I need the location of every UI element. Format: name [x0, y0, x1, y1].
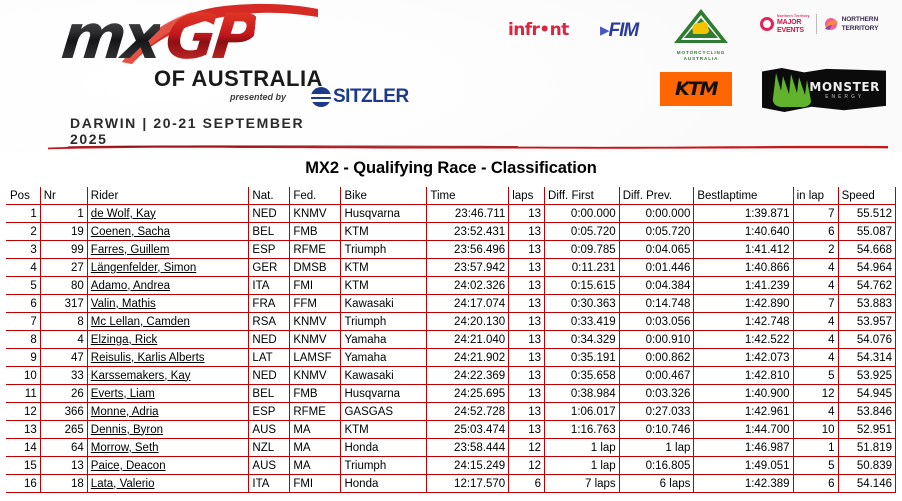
row-cell-time: 23:56.496: [427, 241, 509, 259]
row-cell-bike: Triumph: [341, 241, 427, 259]
row-cell-nr: 366: [40, 403, 87, 421]
row-cell-time: 23:52.431: [427, 223, 509, 241]
row-cell-diff-prev: 0:04.384: [619, 277, 694, 295]
sitzler-logo: SITZLER: [311, 86, 409, 108]
row-cell-bestlaptime: 1:42.389: [694, 475, 793, 493]
table-row: 6317Valin, MathisFRAFFMKawasaki24:17.074…: [7, 295, 896, 313]
row-cell-diff-first: 0:09.785: [545, 241, 620, 259]
table-row: 1464Morrow, SethNZLMAHonda23:58.444121 l…: [7, 439, 896, 457]
row-cell-laps: 13: [509, 349, 545, 367]
ktm-label: KTM: [675, 78, 717, 100]
row-cell-diff-first: 0:38.984: [545, 385, 620, 403]
row-cell-pos: 1: [7, 205, 41, 223]
table-row: 13265Dennis, ByronAUSMAKTM25:03.474131:1…: [7, 421, 896, 439]
nt-line2: TERRITORY: [842, 25, 879, 33]
row-cell-time: 24:22.369: [427, 367, 509, 385]
row-cell-bestlaptime: 1:41.412: [694, 241, 793, 259]
major-events-line1: MAJOR: [777, 19, 810, 26]
table-row: 1618Lata, ValerioITAFMIHonda12:17.57067 …: [7, 475, 896, 493]
row-cell-rider[interactable]: Lata, Valerio: [87, 475, 249, 493]
table-row: 84Elzinga, RickNEDKNMVYamaha24:21.040130…: [7, 331, 896, 349]
row-cell-pos: 15: [7, 457, 41, 475]
monster-energy-logo: MONSTER ENERGY: [762, 68, 886, 112]
row-cell-diff-first: 0:30.363: [545, 295, 620, 313]
ma-label: MOTORCYCLING AUSTRALIA: [670, 50, 732, 62]
row-cell-pos: 5: [7, 277, 41, 295]
row-cell-rider[interactable]: Elzinga, Rick: [87, 331, 249, 349]
row-cell-fed: MA: [290, 439, 341, 457]
column-header-nr[interactable]: Nr: [40, 187, 87, 205]
column-header-fed[interactable]: Fed.: [290, 187, 341, 205]
row-cell-rider[interactable]: Farres, Guillem: [87, 241, 249, 259]
row-cell-nr: 64: [40, 439, 87, 457]
row-cell-diff-first: 0:05.720: [545, 223, 620, 241]
row-cell-diff-first: 0:15.615: [545, 277, 620, 295]
row-cell-laps: 13: [509, 421, 545, 439]
row-cell-in-lap: 4: [793, 259, 838, 277]
rider-link[interactable]: Lata, Valerio: [91, 478, 155, 490]
row-cell-diff-first: 0:35.658: [545, 367, 620, 385]
row-cell-diff-first: 1:16.763: [545, 421, 620, 439]
row-cell-time: 25:03.474: [427, 421, 509, 439]
row-cell-nr: 1: [40, 205, 87, 223]
table-row: 947Reisulis, Karlis AlbertsLATLAMSFYamah…: [7, 349, 896, 367]
row-cell-laps: 13: [509, 385, 545, 403]
results-table: Pos Nr Rider Nat. Fed. Bike Time laps Di…: [6, 187, 896, 493]
row-cell-pos: 3: [7, 241, 41, 259]
row-cell-nat: BEL: [249, 223, 290, 241]
mxgp-mx-text: mx: [59, 6, 162, 68]
row-cell-bestlaptime: 1:42.810: [694, 367, 793, 385]
row-cell-time: 24:52.728: [427, 403, 509, 421]
row-cell-in-lap: 4: [793, 313, 838, 331]
row-cell-pos: 7: [7, 313, 41, 331]
column-header-nat[interactable]: Nat.: [249, 187, 290, 205]
row-cell-nat: NED: [249, 205, 290, 223]
row-cell-bike: Honda: [341, 439, 427, 457]
row-cell-diff-prev: 0:27.033: [619, 403, 694, 421]
nt-divider: [816, 14, 817, 34]
row-cell-laps: 13: [509, 259, 545, 277]
row-cell-speed: 53.883: [838, 295, 895, 313]
major-events-ring-icon: [760, 17, 774, 31]
row-cell-bestlaptime: 1:42.522: [694, 331, 793, 349]
row-cell-pos: 2: [7, 223, 41, 241]
column-header-in-lap[interactable]: in lap: [793, 187, 838, 205]
column-header-speed[interactable]: Speed: [838, 187, 895, 205]
row-cell-fed: MA: [290, 457, 341, 475]
rider-link[interactable]: Paice, Deacon: [91, 460, 166, 472]
row-cell-nr: 47: [40, 349, 87, 367]
row-cell-bestlaptime: 1:40.640: [694, 223, 793, 241]
row-cell-diff-prev: 0:03.056: [619, 313, 694, 331]
row-cell-diff-first: 1:06.017: [545, 403, 620, 421]
row-cell-laps: 13: [509, 403, 545, 421]
row-cell-fed: FFM: [290, 295, 341, 313]
row-cell-bestlaptime: 1:41.239: [694, 277, 793, 295]
column-header-time[interactable]: Time: [427, 187, 509, 205]
row-cell-laps: 13: [509, 367, 545, 385]
row-cell-speed: 54.668: [838, 241, 895, 259]
fim-logo: ▸FIM: [600, 19, 638, 42]
row-cell-time: 24:21.902: [427, 349, 509, 367]
row-cell-bike: Kawasaki: [341, 367, 427, 385]
results-table-container: Pos Nr Rider Nat. Fed. Bike Time laps Di…: [0, 187, 902, 493]
row-cell-speed: 53.925: [838, 367, 895, 385]
row-cell-fed: RFME: [290, 403, 341, 421]
row-cell-nat: ESP: [249, 241, 290, 259]
page-title: MX2 - Qualifying Race - Classification: [0, 159, 902, 178]
rider-link[interactable]: Valin, Mathis: [91, 298, 156, 310]
table-row: 1513Paice, DeaconAUSMATriumph24:15.24912…: [7, 457, 896, 475]
table-row: 219Coenen, SachaBELFMBKTM23:52.431130:05…: [7, 223, 896, 241]
row-cell-diff-prev: 0:03.326: [619, 385, 694, 403]
row-cell-in-lap: 2: [793, 241, 838, 259]
row-cell-speed: 51.819: [838, 439, 895, 457]
table-header-row: Pos Nr Rider Nat. Fed. Bike Time laps Di…: [7, 187, 896, 205]
table-row: 1126Everts, LiamBELFMBHusqvarna24:25.695…: [7, 385, 896, 403]
row-cell-nat: ITA: [249, 277, 290, 295]
table-row: 12366Monne, AdriaESPRFMEGASGAS24:52.7281…: [7, 403, 896, 421]
row-cell-diff-prev: 0:10.746: [619, 421, 694, 439]
row-cell-diff-prev: 0:00.467: [619, 367, 694, 385]
rider-link[interactable]: Monne, Adria: [91, 406, 159, 418]
northern-territory-logo: NORTHERN TERRITORY: [823, 16, 879, 32]
row-cell-time: 24:20.130: [427, 313, 509, 331]
rider-link[interactable]: de Wolf, Kay: [91, 208, 156, 220]
nt-sponsor-group: Northern Territory MAJOR EVENTS NORTHERN…: [760, 14, 878, 34]
row-cell-nr: 18: [40, 475, 87, 493]
row-cell-in-lap: 7: [793, 295, 838, 313]
row-cell-nat: LAT: [249, 349, 290, 367]
row-cell-nr: 13: [40, 457, 87, 475]
row-cell-diff-first: 0:33.419: [545, 313, 620, 331]
row-cell-time: 23:46.711: [427, 205, 509, 223]
row-cell-pos: 12: [7, 403, 41, 421]
row-cell-speed: 53.846: [838, 403, 895, 421]
row-cell-rider[interactable]: Längenfelder, Simon: [87, 259, 249, 277]
mxgp-logo: mx GP OF AUSTRALIA presented by SITZLER …: [34, 4, 334, 129]
column-header-pos[interactable]: Pos: [7, 187, 41, 205]
row-cell-diff-prev: 0:01.446: [619, 259, 694, 277]
row-cell-pos: 9: [7, 349, 41, 367]
row-cell-fed: FMI: [290, 475, 341, 493]
row-cell-bestlaptime: 1:42.890: [694, 295, 793, 313]
row-cell-rider[interactable]: Paice, Deacon: [87, 457, 249, 475]
rider-link[interactable]: Reisulis, Karlis Alberts: [91, 352, 205, 364]
column-header-diff-prev[interactable]: Diff. Prev.: [619, 187, 694, 205]
row-cell-fed: RFME: [290, 241, 341, 259]
row-cell-rider[interactable]: Adamo, Andrea: [87, 277, 249, 295]
row-cell-fed: DMSB: [290, 259, 341, 277]
table-row: 11de Wolf, KayNEDKNMVHusqvarna23:46.7111…: [7, 205, 896, 223]
row-cell-time: 23:57.942: [427, 259, 509, 277]
rider-link[interactable]: Morrow, Seth: [91, 442, 159, 454]
row-cell-nat: ESP: [249, 403, 290, 421]
row-cell-diff-first: 0:35.191: [545, 349, 620, 367]
row-cell-speed: 55.087: [838, 223, 895, 241]
row-cell-pos: 13: [7, 421, 41, 439]
row-cell-laps: 12: [509, 457, 545, 475]
presented-by-label: presented by: [230, 92, 286, 102]
row-cell-rider[interactable]: Dennis, Byron: [87, 421, 249, 439]
row-cell-bestlaptime: 1:44.700: [694, 421, 793, 439]
row-cell-laps: 13: [509, 295, 545, 313]
row-cell-speed: 53.957: [838, 313, 895, 331]
row-cell-laps: 13: [509, 331, 545, 349]
monster-claw-icon: [768, 71, 816, 109]
row-cell-fed: KNMV: [290, 331, 341, 349]
row-cell-nr: 19: [40, 223, 87, 241]
row-cell-in-lap: 5: [793, 457, 838, 475]
infront-logo: infr•nt: [508, 20, 569, 40]
column-header-rider[interactable]: Rider: [87, 187, 249, 205]
row-cell-fed: FMB: [290, 223, 341, 241]
row-cell-diff-prev: 0:14.748: [619, 295, 694, 313]
nt-bird-icon: [823, 17, 839, 31]
row-cell-time: 24:25.695: [427, 385, 509, 403]
ma-label-line2: AUSTRALIA: [670, 56, 732, 62]
row-cell-laps: 13: [509, 313, 545, 331]
row-cell-speed: 54.314: [838, 349, 895, 367]
row-cell-fed: LAMSF: [290, 349, 341, 367]
row-cell-diff-first: 1 lap: [545, 439, 620, 457]
row-cell-bike: Honda: [341, 475, 427, 493]
row-cell-bestlaptime: 1:42.748: [694, 313, 793, 331]
row-cell-in-lap: 5: [793, 367, 838, 385]
row-cell-diff-first: 0:11.231: [545, 259, 620, 277]
row-cell-nat: BEL: [249, 385, 290, 403]
row-cell-nat: AUS: [249, 421, 290, 439]
row-cell-laps: 12: [509, 439, 545, 457]
row-cell-pos: 10: [7, 367, 41, 385]
row-cell-speed: 54.146: [838, 475, 895, 493]
row-cell-in-lap: 12: [793, 385, 838, 403]
row-cell-nat: NED: [249, 367, 290, 385]
rider-link[interactable]: Elzinga, Rick: [91, 334, 157, 346]
row-cell-laps: 13: [509, 223, 545, 241]
row-cell-nr: 27: [40, 259, 87, 277]
table-row: 427Längenfelder, SimonGERDMSBKTM23:57.94…: [7, 259, 896, 277]
row-cell-diff-prev: 0:00.862: [619, 349, 694, 367]
row-cell-bike: Yamaha: [341, 331, 427, 349]
column-header-bike[interactable]: Bike: [341, 187, 427, 205]
column-header-laps[interactable]: laps: [509, 187, 545, 205]
row-cell-time: 24:17.074: [427, 295, 509, 313]
table-row: 1033Karssemakers, KayNEDKNMVKawasaki24:2…: [7, 367, 896, 385]
row-cell-fed: KNMV: [290, 313, 341, 331]
row-cell-fed: FMI: [290, 277, 341, 295]
row-cell-nr: 317: [40, 295, 87, 313]
row-cell-rider[interactable]: Karssemakers, Kay: [87, 367, 249, 385]
row-cell-speed: 50.839: [838, 457, 895, 475]
row-cell-laps: 13: [509, 241, 545, 259]
fim-label: ▸FIM: [600, 19, 638, 42]
table-row: 580Adamo, AndreaITAFMIKTM24:02.326130:15…: [7, 277, 896, 295]
row-cell-in-lap: 1: [793, 439, 838, 457]
row-cell-diff-first: 7 laps: [545, 475, 620, 493]
rider-link[interactable]: Mc Lellan, Camden: [91, 316, 190, 328]
column-header-bestlaptime[interactable]: Bestlaptime: [694, 187, 793, 205]
ktm-logo: KTM: [660, 72, 732, 106]
row-cell-nat: NED: [249, 331, 290, 349]
ma-triangle-icon: [673, 8, 729, 44]
row-cell-speed: 54.076: [838, 331, 895, 349]
row-cell-bestlaptime: 1:39.871: [694, 205, 793, 223]
row-cell-nr: 265: [40, 421, 87, 439]
row-cell-bike: Triumph: [341, 457, 427, 475]
row-cell-diff-first: 1 lap: [545, 457, 620, 475]
row-cell-bike: Husqvarna: [341, 205, 427, 223]
row-cell-fed: FMB: [290, 385, 341, 403]
row-cell-nr: 80: [40, 277, 87, 295]
infront-label: infr•nt: [508, 20, 569, 40]
red-brush-divider: [48, 143, 888, 150]
row-cell-speed: 54.964: [838, 259, 895, 277]
row-cell-nat: RSA: [249, 313, 290, 331]
row-cell-laps: 13: [509, 277, 545, 295]
row-cell-speed: 54.762: [838, 277, 895, 295]
major-events-small: Northern Territory: [777, 14, 810, 18]
row-cell-diff-prev: 6 laps: [619, 475, 694, 493]
row-cell-diff-prev: 0:00.910: [619, 331, 694, 349]
rider-link[interactable]: Dennis, Byron: [91, 424, 163, 436]
row-cell-rider[interactable]: Reisulis, Karlis Alberts: [87, 349, 249, 367]
row-cell-diff-prev: 1 lap: [619, 439, 694, 457]
table-row: 78Mc Lellan, CamdenRSAKNMVTriumph24:20.1…: [7, 313, 896, 331]
row-cell-nr: 8: [40, 313, 87, 331]
row-cell-bike: KTM: [341, 259, 427, 277]
row-cell-in-lap: 4: [793, 349, 838, 367]
row-cell-pos: 16: [7, 475, 41, 493]
row-cell-bike: KTM: [341, 421, 427, 439]
row-cell-diff-first: 0:00.000: [545, 205, 620, 223]
row-cell-nat: ITA: [249, 475, 290, 493]
row-cell-in-lap: 7: [793, 205, 838, 223]
row-cell-nr: 4: [40, 331, 87, 349]
row-cell-bestlaptime: 1:42.073: [694, 349, 793, 367]
column-header-diff-first[interactable]: Diff. First: [545, 187, 620, 205]
row-cell-rider[interactable]: de Wolf, Kay: [87, 205, 249, 223]
row-cell-rider[interactable]: Valin, Mathis: [87, 295, 249, 313]
row-cell-in-lap: 6: [793, 223, 838, 241]
row-cell-nr: 26: [40, 385, 87, 403]
monster-line1: MONSTER: [809, 81, 880, 93]
row-cell-bestlaptime: 1:49.051: [694, 457, 793, 475]
row-cell-diff-prev: 0:04.065: [619, 241, 694, 259]
row-cell-pos: 14: [7, 439, 41, 457]
motorcycling-australia-logo: MOTORCYCLING AUSTRALIA: [670, 8, 732, 58]
row-cell-speed: 52.951: [838, 421, 895, 439]
row-cell-in-lap: 4: [793, 403, 838, 421]
row-cell-bestlaptime: 1:42.961: [694, 403, 793, 421]
row-cell-diff-first: 0:34.329: [545, 331, 620, 349]
row-cell-bestlaptime: 1:46.987: [694, 439, 793, 457]
row-cell-fed: KNMV: [290, 205, 341, 223]
rider-link[interactable]: Längenfelder, Simon: [91, 262, 197, 274]
row-cell-bike: Yamaha: [341, 349, 427, 367]
results-table-body: 11de Wolf, KayNEDKNMVHusqvarna23:46.7111…: [7, 205, 896, 493]
row-cell-bestlaptime: 1:40.900: [694, 385, 793, 403]
nt-major-events-logo: Northern Territory MAJOR EVENTS: [760, 14, 810, 34]
sitzler-mark-icon: [311, 87, 331, 107]
row-cell-nat: AUS: [249, 457, 290, 475]
row-cell-pos: 6: [7, 295, 41, 313]
monster-text: MONSTER ENERGY: [809, 81, 880, 100]
row-cell-time: 24:02.326: [427, 277, 509, 295]
row-cell-in-lap: 4: [793, 277, 838, 295]
rider-link[interactable]: Adamo, Andrea: [91, 280, 170, 292]
row-cell-laps: 13: [509, 205, 545, 223]
row-cell-in-lap: 6: [793, 475, 838, 493]
row-cell-rider[interactable]: Mc Lellan, Camden: [87, 313, 249, 331]
rider-link[interactable]: Everts, Liam: [91, 388, 155, 400]
row-cell-nat: FRA: [249, 295, 290, 313]
row-cell-rider[interactable]: Monne, Adria: [87, 403, 249, 421]
sitzler-text: SITZLER: [333, 86, 409, 108]
rider-link[interactable]: Karssemakers, Kay: [91, 370, 191, 382]
row-cell-bike: Triumph: [341, 313, 427, 331]
row-cell-nat: NZL: [249, 439, 290, 457]
rider-link[interactable]: Farres, Guillem: [91, 244, 170, 256]
row-cell-pos: 8: [7, 331, 41, 349]
row-cell-speed: 55.512: [838, 205, 895, 223]
row-cell-bike: KTM: [341, 223, 427, 241]
row-cell-fed: MA: [290, 421, 341, 439]
northern-territory-text: NORTHERN TERRITORY: [842, 16, 879, 32]
fim-text: FIM: [609, 20, 639, 41]
row-cell-time: 12:17.570: [427, 475, 509, 493]
row-cell-bestlaptime: 1:40.866: [694, 259, 793, 277]
nt-line1: NORTHERN: [842, 16, 879, 24]
row-cell-time: 24:15.249: [427, 457, 509, 475]
row-cell-bike: KTM: [341, 277, 427, 295]
rider-link[interactable]: Coenen, Sacha: [91, 226, 170, 238]
row-cell-diff-prev: 0:16.805: [619, 457, 694, 475]
mxgp-gp-text: GP: [163, 6, 258, 68]
row-cell-in-lap: 10: [793, 421, 838, 439]
row-cell-rider[interactable]: Morrow, Seth: [87, 439, 249, 457]
row-cell-in-lap: 4: [793, 331, 838, 349]
row-cell-rider[interactable]: Coenen, Sacha: [87, 223, 249, 241]
table-row: 399Farres, GuillemESPRFMETriumph23:56.49…: [7, 241, 896, 259]
row-cell-nr: 99: [40, 241, 87, 259]
row-cell-bike: Husqvarna: [341, 385, 427, 403]
row-cell-time: 24:21.040: [427, 331, 509, 349]
row-cell-speed: 54.945: [838, 385, 895, 403]
row-cell-time: 23:58.444: [427, 439, 509, 457]
row-cell-pos: 4: [7, 259, 41, 277]
row-cell-laps: 6: [509, 475, 545, 493]
monster-line2: ENERGY: [809, 95, 880, 100]
row-cell-bike: GASGAS: [341, 403, 427, 421]
event-banner: mx GP OF AUSTRALIA presented by SITZLER …: [0, 0, 902, 152]
row-cell-nr: 33: [40, 367, 87, 385]
row-cell-diff-prev: 0:05.720: [619, 223, 694, 241]
row-cell-diff-prev: 0:00.000: [619, 205, 694, 223]
major-events-line2: EVENTS: [777, 27, 810, 34]
row-cell-pos: 11: [7, 385, 41, 403]
row-cell-nat: GER: [249, 259, 290, 277]
row-cell-fed: KNMV: [290, 367, 341, 385]
row-cell-bike: Kawasaki: [341, 295, 427, 313]
row-cell-rider[interactable]: Everts, Liam: [87, 385, 249, 403]
major-events-text: Northern Territory MAJOR EVENTS: [777, 14, 810, 34]
